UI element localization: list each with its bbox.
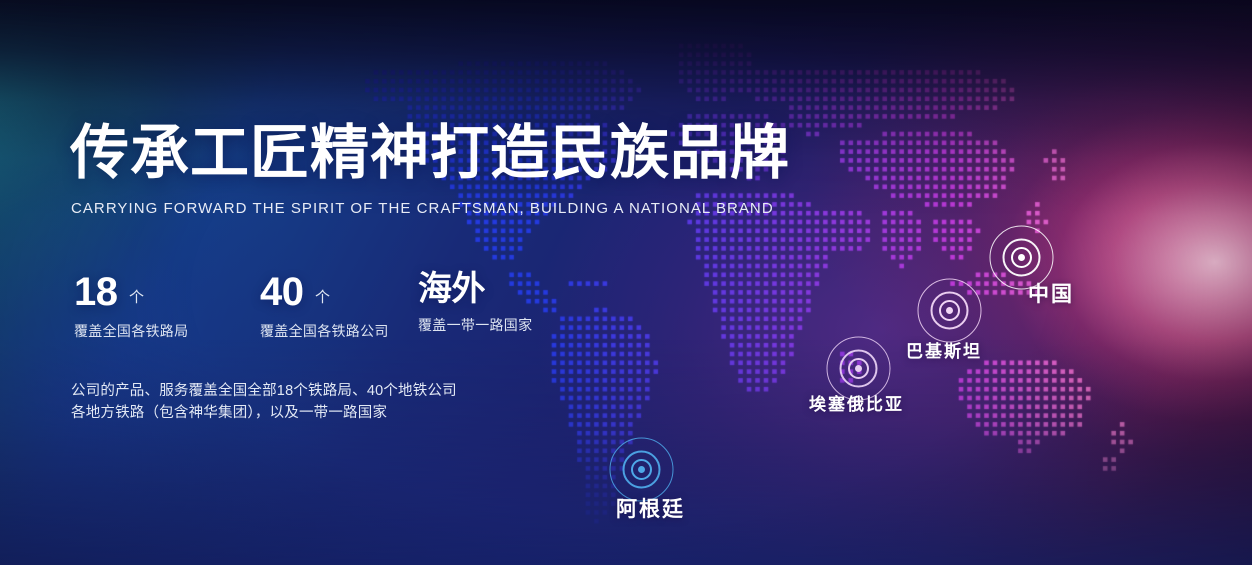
stat-value-row-2: 海外 <box>418 272 532 306</box>
page-title: 传承工匠精神打造民族品牌 <box>70 124 790 183</box>
map-label-china: 中国 <box>1028 278 1074 308</box>
map-marker-china[interactable] <box>1021 257 1022 258</box>
stat-item-2: 海外 覆盖一带一路国家 <box>418 272 532 335</box>
description-block: 公司的产品、服务覆盖全国全部18个铁路局、40个地铁公司 各地方铁路（包含神华集… <box>71 380 457 424</box>
stat-item-1: 40 个 覆盖全国各铁路公司 <box>260 272 389 341</box>
map-marker-argentina[interactable] <box>641 469 642 470</box>
description-line-2: 各地方铁路（包含神华集团），以及一带一路国家 <box>71 402 457 424</box>
map-marker-pakistan[interactable] <box>949 310 950 311</box>
stat-label-2: 覆盖一带一路国家 <box>418 315 532 335</box>
map-marker-ethiopia[interactable] <box>858 368 859 369</box>
stat-label-0: 覆盖全国各铁路局 <box>74 321 188 341</box>
marker-core-icon <box>638 466 645 473</box>
description-line-1: 公司的产品、服务覆盖全国全部18个铁路局、40个地铁公司 <box>71 380 457 402</box>
stats-group: 18 个 覆盖全国各铁路局 40 个 覆盖全国各铁路公司 海外 覆盖一带一路国家 <box>70 272 590 334</box>
stat-unit-1: 个 <box>315 289 330 306</box>
stat-unit-0: 个 <box>129 289 144 306</box>
map-label-pakistan: 巴基斯坦 <box>906 337 982 362</box>
stat-value-row-0: 18 个 <box>74 272 188 312</box>
stat-number-0: 18 <box>74 270 118 314</box>
marker-core-icon <box>855 365 862 372</box>
marker-core-icon <box>1018 254 1025 261</box>
map-label-ethiopia: 埃塞俄比亚 <box>809 390 904 415</box>
hero-banner: 中国巴基斯坦埃塞俄比亚阿根廷 传承工匠精神打造民族品牌 CARRYING FOR… <box>0 0 1252 565</box>
page-subtitle: CARRYING FORWARD THE SPIRIT OF THE CRAFT… <box>71 200 774 217</box>
stat-number-1: 40 <box>260 270 304 314</box>
stat-item-0: 18 个 覆盖全国各铁路局 <box>74 272 188 341</box>
map-label-argentina: 阿根廷 <box>616 493 685 523</box>
stat-number-2: 海外 <box>418 270 485 308</box>
marker-core-icon <box>946 307 953 314</box>
stat-value-row-1: 40 个 <box>260 272 389 312</box>
stat-label-1: 覆盖全国各铁路公司 <box>260 321 389 341</box>
